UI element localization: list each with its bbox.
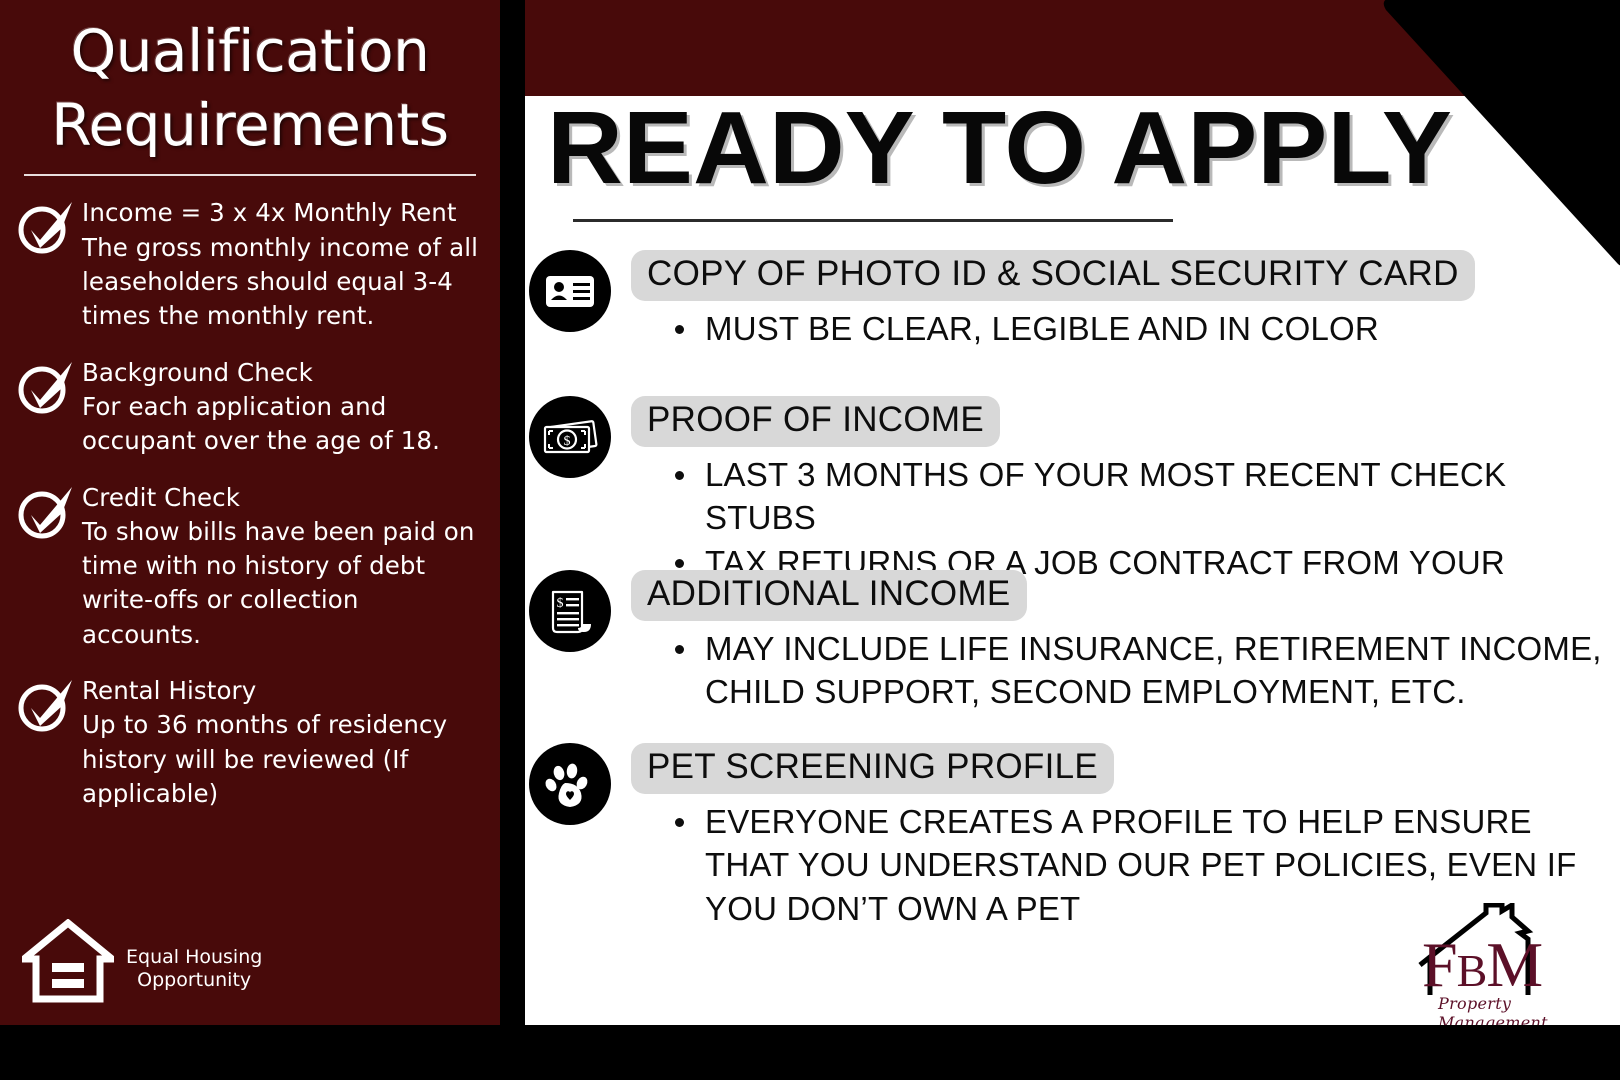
requirement-heading: Credit Check <box>82 481 482 515</box>
check-circle-icon <box>14 483 76 541</box>
section-title: PROOF OF INCOME <box>631 396 1000 447</box>
fbm-letter-b: B <box>1457 945 1487 996</box>
equal-housing-label: Equal Housing Opportunity <box>126 946 262 994</box>
requirement-body: The gross monthly income of all leasehol… <box>82 231 482 334</box>
equal-housing-house-icon <box>22 919 114 1003</box>
requirement-heading: Income = 3 x 4x Monthly Rent <box>82 196 482 230</box>
vertical-divider <box>500 0 525 1080</box>
headline-underline <box>573 219 1173 222</box>
list-item: MAY INCLUDE LIFE INSURANCE, RETIREMENT I… <box>673 627 1616 714</box>
section-bullets: MAY INCLUDE LIFE INSURANCE, RETIREMENT I… <box>631 627 1616 714</box>
list-item: MUST BE CLEAR, LEGIBLE AND IN COLOR <box>673 307 1616 351</box>
fbm-property-management-logo: FBM Property Management <box>1408 899 1608 1017</box>
section-title: ADDITIONAL INCOME <box>631 570 1027 621</box>
requirement-item-credit-check: Credit Check To show bills have been pai… <box>14 481 482 652</box>
banknotes-icon: $ <box>529 396 611 478</box>
requirement-item-background-check: Background Check For each application an… <box>14 356 482 459</box>
requirement-body: For each application and occupant over t… <box>82 390 482 459</box>
check-circle-icon <box>14 358 76 416</box>
id-card-icon <box>529 250 611 332</box>
requirement-heading: Rental History <box>82 674 482 708</box>
fbm-wordmark: FBM <box>1422 933 1542 997</box>
section-bullets: MUST BE CLEAR, LEGIBLE AND IN COLOR <box>631 307 1616 351</box>
section-body: COPY OF PHOTO ID & SOCIAL SECURITY CARD … <box>631 250 1616 351</box>
title-divider <box>24 174 476 176</box>
fbm-letter-m: M <box>1486 929 1542 1000</box>
qualification-requirements-panel: Qualification Requirements Income = 3 x … <box>0 0 500 1025</box>
requirement-item-income: Income = 3 x 4x Monthly Rent The gross m… <box>14 196 482 333</box>
requirement-text: Income = 3 x 4x Monthly Rent The gross m… <box>82 196 482 333</box>
paw-heart-icon <box>529 743 611 825</box>
requirement-body: To show bills have been paid on time wit… <box>82 515 482 652</box>
ready-to-apply-panel: READY TO APPLY COPY OF PHOTO ID & SOCIAL… <box>525 0 1620 1025</box>
requirement-body: Up to 36 months of residency history wil… <box>82 708 482 811</box>
list-item: LAST 3 MONTHS OF YOUR MOST RECENT CHECK … <box>673 453 1616 540</box>
headline: READY TO APPLY <box>547 96 1465 199</box>
equal-housing-opportunity-logo: Equal Housing Opportunity <box>22 919 262 1003</box>
requirements-list: Income = 3 x 4x Monthly Rent The gross m… <box>0 196 500 811</box>
requirement-item-rental-history: Rental History Up to 36 months of reside… <box>14 674 482 811</box>
fbm-tagline: Property Management <box>1438 994 1608 1025</box>
section-title: COPY OF PHOTO ID & SOCIAL SECURITY CARD <box>631 250 1475 301</box>
invoice-document-icon: $ <box>529 570 611 652</box>
fbm-letter-f: F <box>1422 929 1457 1000</box>
svg-text:$: $ <box>564 434 571 449</box>
requirement-text: Background Check For each application an… <box>82 356 482 459</box>
check-circle-icon <box>14 676 76 734</box>
apply-requirements-flyer: Qualification Requirements Income = 3 x … <box>0 0 1620 1080</box>
requirement-heading: Background Check <box>82 356 482 390</box>
section-body: ADDITIONAL INCOME MAY INCLUDE LIFE INSUR… <box>631 570 1616 715</box>
requirement-text: Credit Check To show bills have been pai… <box>82 481 482 652</box>
requirement-text: Rental History Up to 36 months of reside… <box>82 674 482 811</box>
equal-housing-line1: Equal Housing <box>126 946 262 968</box>
section-title: PET SCREENING PROFILE <box>631 743 1114 794</box>
page-title: Qualification Requirements <box>0 14 500 162</box>
check-circle-icon <box>14 198 76 256</box>
svg-text:$: $ <box>557 596 564 611</box>
equal-housing-line2: Opportunity <box>137 969 251 991</box>
